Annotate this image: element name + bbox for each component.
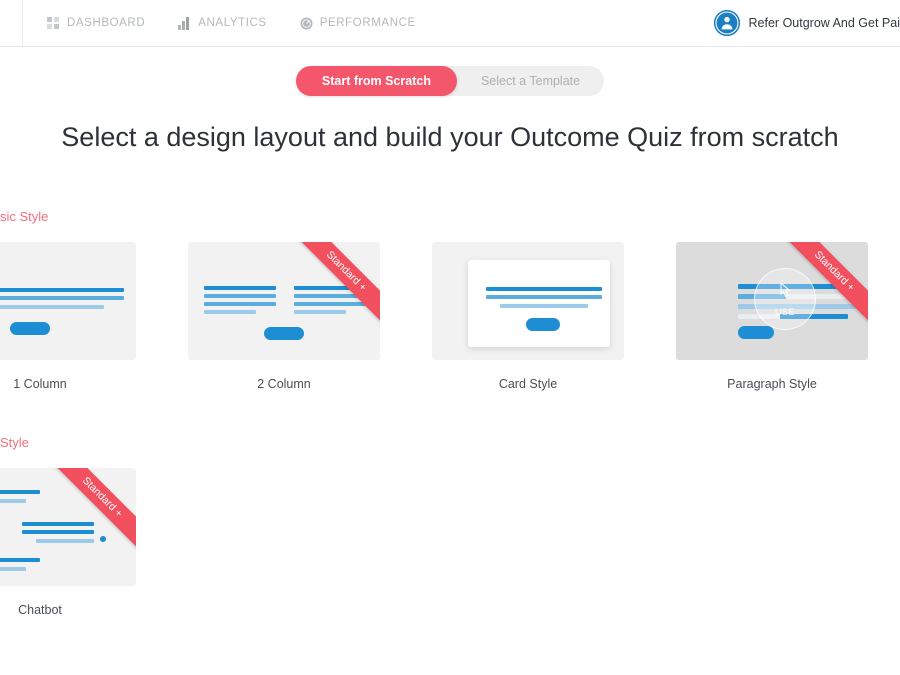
card-row-chatbot: Standard + Chatbot xyxy=(0,468,900,617)
skeleton-button xyxy=(10,322,50,335)
start-from-scratch-tab[interactable]: Start from Scratch xyxy=(296,66,457,96)
nav-item-dashboard-label: DASHBOARD xyxy=(67,17,145,29)
skeleton-line xyxy=(36,539,94,543)
skeleton-line xyxy=(22,522,94,526)
skeleton-line xyxy=(0,490,40,494)
nav-item-analytics[interactable]: ANALYTICS xyxy=(178,17,266,30)
skeleton-line xyxy=(0,305,104,309)
skeleton-button xyxy=(526,318,560,331)
skeleton-line xyxy=(0,558,40,562)
section-chatbot-style-title: Style xyxy=(0,435,900,450)
layout-card-label: 1 Column xyxy=(0,377,162,391)
layout-thumbnail-card-style[interactable] xyxy=(432,242,624,360)
skeleton-button xyxy=(738,326,774,339)
layout-card-label: 2 Column xyxy=(162,377,406,391)
skeleton-line xyxy=(0,288,124,292)
skeleton-line xyxy=(0,499,26,503)
mode-toggle-wrapper: Start from Scratch Select a Template xyxy=(0,66,900,96)
mode-toggle: Start from Scratch Select a Template xyxy=(296,66,604,96)
skeleton-line xyxy=(204,286,276,290)
skeleton-line xyxy=(294,310,346,314)
skeleton-line xyxy=(0,296,124,300)
bar-chart-icon xyxy=(178,17,191,30)
layout-gallery: sic Style 1 Column xyxy=(0,209,900,617)
skeleton-line xyxy=(204,310,256,314)
layout-thumbnail-2-column[interactable]: Standard + xyxy=(188,242,380,360)
layout-thumbnail-paragraph-style[interactable]: USE Standard + xyxy=(676,242,868,360)
select-a-template-tab[interactable]: Select a Template xyxy=(457,66,604,96)
refer-label: Refer Outgrow And Get Pai xyxy=(749,16,900,30)
cursor-click-icon xyxy=(777,282,793,305)
layout-card-label: Paragraph Style xyxy=(650,377,894,391)
layout-card-2-column[interactable]: Standard + 2 Column xyxy=(162,242,406,391)
skeleton-line xyxy=(0,567,26,571)
skeleton-line xyxy=(500,304,588,308)
skeleton-column-right xyxy=(294,286,366,318)
skeleton-button xyxy=(264,327,304,340)
skeleton-line xyxy=(486,287,602,291)
skeleton-line xyxy=(204,294,276,298)
layout-card-label: Chatbot xyxy=(0,603,162,617)
page-title: Select a design layout and build your Ou… xyxy=(0,122,900,153)
refer-banner[interactable]: Refer Outgrow And Get Pai xyxy=(714,0,900,46)
top-navigation-bar: DASHBOARD ANALYTICS PERFO xyxy=(0,0,900,47)
layout-thumbnail-1-column[interactable] xyxy=(0,242,136,360)
skeleton-line xyxy=(294,294,366,298)
nav-items-group: DASHBOARD ANALYTICS PERFO xyxy=(22,0,449,46)
layout-card-card-style[interactable]: Card Style xyxy=(406,242,650,391)
skeleton-line xyxy=(294,286,366,290)
layout-card-1-column[interactable]: 1 Column xyxy=(0,242,162,391)
nav-item-performance[interactable]: PERFORMANCE xyxy=(300,17,416,30)
chat-dot-icon xyxy=(100,536,106,542)
skeleton-line xyxy=(294,302,366,306)
layout-card-paragraph-style[interactable]: USE Standard + Paragraph Style xyxy=(650,242,894,391)
grid-icon xyxy=(47,17,60,30)
section-chatbot-style: Style Standard + xyxy=(0,435,900,617)
layout-card-label: Card Style xyxy=(406,377,650,391)
card-row-basic: 1 Column xyxy=(0,242,900,391)
skeleton-line xyxy=(204,302,276,306)
layout-card-chatbot[interactable]: Standard + Chatbot xyxy=(0,468,162,617)
skeleton-line xyxy=(486,295,602,299)
user-avatar-icon xyxy=(714,10,740,36)
gauge-icon xyxy=(300,17,313,30)
use-template-button[interactable]: USE xyxy=(754,268,816,330)
use-label: USE xyxy=(775,307,795,317)
nav-item-analytics-label: ANALYTICS xyxy=(198,17,266,29)
section-basic-style: sic Style 1 Column xyxy=(0,209,900,391)
skeleton-column-left xyxy=(204,286,276,318)
nav-item-performance-label: PERFORMANCE xyxy=(320,17,416,29)
nav-item-dashboard[interactable]: DASHBOARD xyxy=(47,17,145,30)
layout-thumbnail-chatbot[interactable]: Standard + xyxy=(0,468,136,586)
skeleton-line xyxy=(22,530,94,534)
section-basic-style-title: sic Style xyxy=(0,209,900,224)
